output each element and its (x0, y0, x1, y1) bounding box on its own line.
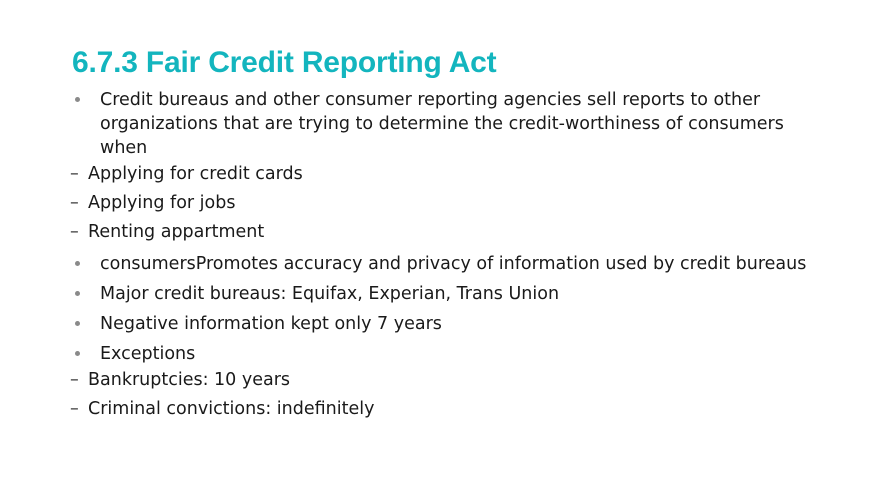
list-item-text: Major credit bureaus: Equifax, Experian,… (100, 282, 810, 306)
list-item-text: Renting appartment (88, 222, 264, 242)
list-item-text: Criminal convictions: indefinitely (88, 399, 374, 419)
sub-list-container: Bankruptcies: 10 years Criminal convicti… (70, 366, 810, 424)
list-item: Exceptions (70, 342, 810, 366)
list-item: Credit bureaus and other consumer report… (70, 88, 810, 160)
list-item: Negative information kept only 7 years (70, 312, 810, 336)
list-item: Major credit bureaus: Equifax, Experian,… (70, 282, 810, 306)
list-item-text: Negative information kept only 7 years (100, 312, 810, 336)
list-item-text: Credit bureaus and other consumer report… (100, 88, 810, 160)
list-item-text: Applying for credit cards (88, 164, 303, 184)
slide-canvas: 6.7.3 Fair Credit Reporting Act Credit b… (0, 0, 880, 495)
list-item-text: Exceptions (100, 342, 810, 366)
list-item: Applying for credit cards (70, 160, 810, 189)
slide-body: Credit bureaus and other consumer report… (70, 88, 810, 424)
page-title: 6.7.3 Fair Credit Reporting Act (72, 46, 496, 80)
list-item-text: Bankruptcies: 10 years (88, 370, 290, 390)
list-item: consumersPromotes accuracy and privacy o… (70, 252, 810, 276)
list-item: Applying for jobs (70, 189, 810, 218)
list-item-text: Applying for jobs (88, 193, 235, 213)
bullet-list-sub: Bankruptcies: 10 years Criminal convicti… (70, 366, 810, 424)
list-item-text: consumersPromotes accuracy and privacy o… (100, 252, 810, 276)
list-item: Criminal convictions: indefinitely (70, 395, 810, 424)
list-item: Renting appartment (70, 218, 810, 247)
sub-list-container: Applying for credit cards Applying for j… (70, 160, 810, 247)
bullet-list-sub: Applying for credit cards Applying for j… (70, 160, 810, 247)
bullet-list-top: Credit bureaus and other consumer report… (70, 88, 810, 424)
list-item: Bankruptcies: 10 years (70, 366, 810, 395)
